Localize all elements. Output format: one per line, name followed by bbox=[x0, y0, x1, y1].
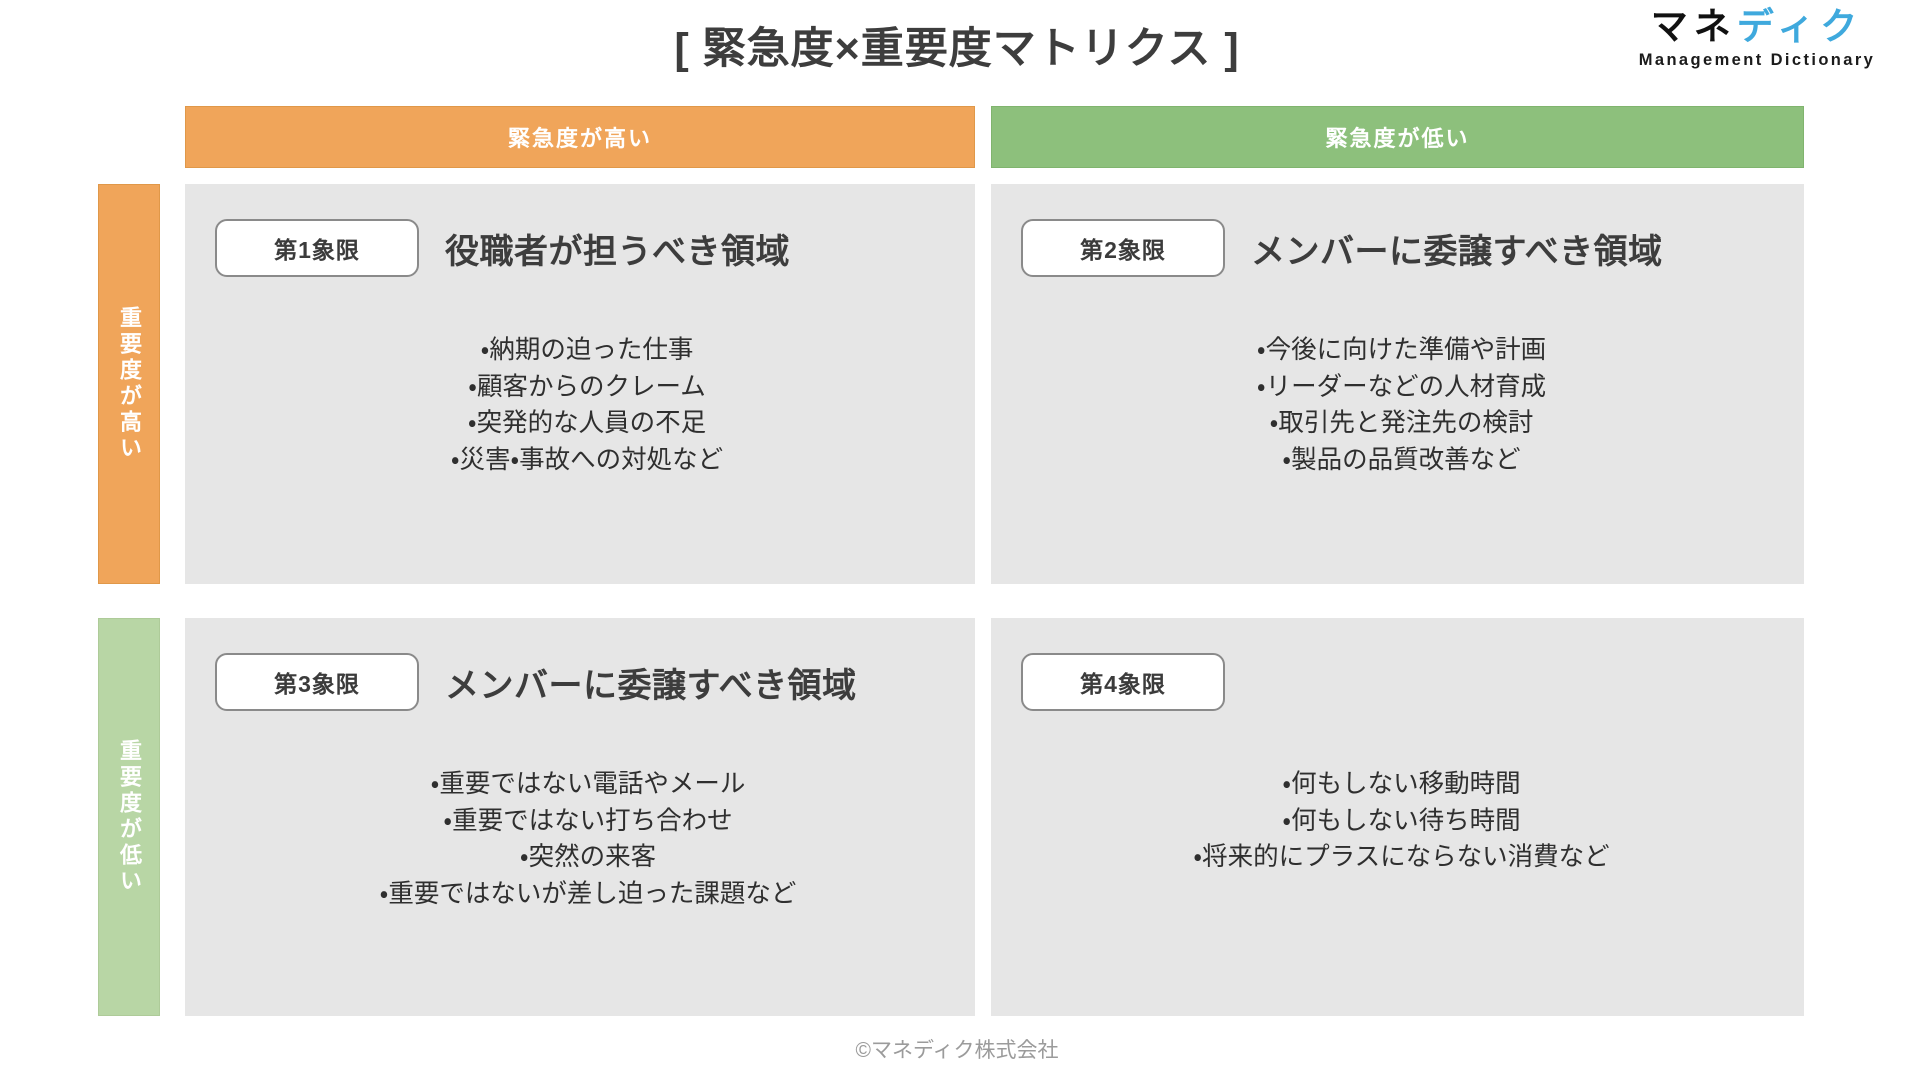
list-item: ・何もしない待ち時間 bbox=[999, 803, 1804, 840]
list-item: ・今後に向けた準備や計画 bbox=[999, 332, 1804, 369]
quadrant-1-title: 役職者が担うべき領域 bbox=[445, 224, 790, 273]
list-item: ・将来的にプラスにならない消費など bbox=[999, 839, 1804, 876]
quadrant-4-list: ・何もしない移動時間 ・何もしない待ち時間 ・将来的にプラスにならない消費など bbox=[991, 766, 1804, 876]
quadrant-4-badge: 第4象限 bbox=[1021, 653, 1225, 711]
quadrant-1-badge: 第1象限 bbox=[215, 219, 419, 277]
matrix-grid: 緊急度が高い 緊急度が低い 重要度が高い 重要度が低い 第1象限 役職者が担うべ… bbox=[98, 106, 1804, 1016]
quadrant-3-head: 第3象限 メンバーに委譲すべき領域 bbox=[215, 652, 965, 712]
quadrant-3-title: メンバーに委譲すべき領域 bbox=[445, 658, 857, 707]
page-header: [ 緊急度×重要度マトリクス ] マネディク Management Dictio… bbox=[0, 0, 1914, 100]
column-header-row: 緊急度が高い 緊急度が低い bbox=[185, 106, 1804, 168]
list-item: ・災害・事故への対処など bbox=[199, 442, 975, 479]
list-item: ・製品の品質改善など bbox=[999, 442, 1804, 479]
row-header-importance-low: 重要度が低い bbox=[98, 618, 160, 1016]
footer-copyright: ©マネディク株式会社 bbox=[0, 1034, 1914, 1064]
quadrant-4-panel: 第4象限 ・何もしない移動時間 ・何もしない待ち時間 ・将来的にプラスにならない… bbox=[991, 618, 1804, 1016]
list-item: ・重要ではない打ち合わせ bbox=[201, 803, 975, 840]
quadrant-2-title: メンバーに委譲すべき領域 bbox=[1251, 224, 1663, 273]
list-item: ・リーダーなどの人材育成 bbox=[999, 369, 1804, 406]
list-item: ・何もしない移動時間 bbox=[999, 766, 1804, 803]
brand-subtitle: Management Dictionary bbox=[1622, 52, 1892, 69]
quadrant-2-badge: 第2象限 bbox=[1021, 219, 1225, 277]
quadrant-2-panel: 第2象限 メンバーに委譲すべき領域 ・今後に向けた準備や計画 ・リーダーなどの人… bbox=[991, 184, 1804, 584]
quadrant-3-list: ・重要ではない電話やメール ・重要ではない打ち合わせ ・突然の来客 ・重要ではな… bbox=[185, 766, 975, 913]
list-item: ・重要ではないが差し迫った課題など bbox=[201, 876, 975, 913]
quadrant-1-list: ・納期の迫った仕事 ・顧客からのクレーム ・突発的な人員の不足 ・災害・事故への… bbox=[185, 332, 975, 479]
brand-wordmark: マネディク bbox=[1622, 8, 1892, 45]
brand-wordmark-dark: マネ bbox=[1651, 6, 1737, 47]
list-item: ・突然の来客 bbox=[201, 839, 975, 876]
quadrant-2-list: ・今後に向けた準備や計画 ・リーダーなどの人材育成 ・取引先と発注先の検討 ・製… bbox=[991, 332, 1804, 479]
row-header-importance-high: 重要度が高い bbox=[98, 184, 160, 584]
quadrant-1-panel: 第1象限 役職者が担うべき領域 ・納期の迫った仕事 ・顧客からのクレーム ・突発… bbox=[185, 184, 975, 584]
list-item: ・取引先と発注先の検討 bbox=[999, 405, 1804, 442]
column-header-urgency-high: 緊急度が高い bbox=[185, 106, 975, 168]
list-item: ・重要ではない電話やメール bbox=[201, 766, 975, 803]
quadrant-3-badge: 第3象限 bbox=[215, 653, 419, 711]
brand-wordmark-blue: ディク bbox=[1737, 6, 1863, 47]
quadrant-1-head: 第1象限 役職者が担うべき領域 bbox=[215, 218, 965, 278]
brand-logo: マネディク Management Dictionary bbox=[1622, 8, 1892, 69]
list-item: ・突発的な人員の不足 bbox=[199, 405, 975, 442]
quadrant-3-panel: 第3象限 メンバーに委譲すべき領域 ・重要ではない電話やメール ・重要ではない打… bbox=[185, 618, 975, 1016]
list-item: ・顧客からのクレーム bbox=[199, 369, 975, 406]
quadrant-2-head: 第2象限 メンバーに委譲すべき領域 bbox=[1021, 218, 1794, 278]
column-header-urgency-low: 緊急度が低い bbox=[991, 106, 1804, 168]
quadrant-4-head: 第4象限 bbox=[1021, 652, 1794, 712]
list-item: ・納期の迫った仕事 bbox=[199, 332, 975, 369]
